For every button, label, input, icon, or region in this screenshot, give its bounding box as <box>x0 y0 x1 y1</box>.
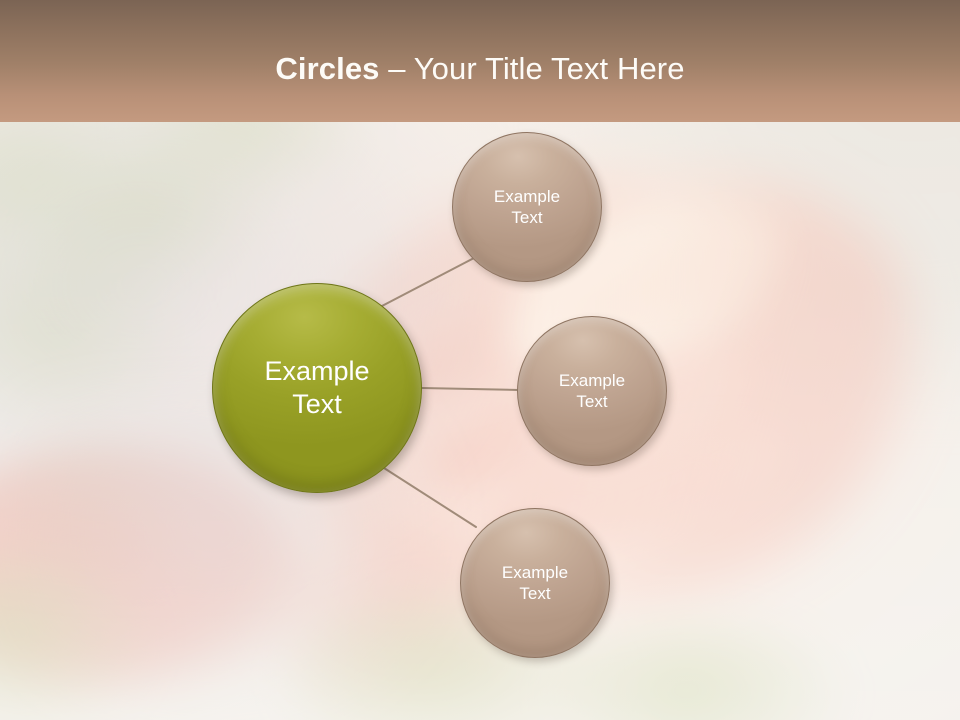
satellite-circle-top-label: Example Text <box>484 186 570 228</box>
satellite-circle-bottom-label: Example Text <box>492 562 578 604</box>
satellite-bottom-line2: Text <box>502 583 568 604</box>
slide-canvas: Circles – Your Title Text Here Example T… <box>0 0 960 720</box>
center-circle-label-line2: Text <box>264 388 369 421</box>
satellite-circle-right-label: Example Text <box>549 370 635 412</box>
connector-center-to-right <box>422 388 519 390</box>
center-circle-label-line1: Example <box>264 355 369 388</box>
satellite-circle-top[interactable]: Example Text <box>452 132 602 282</box>
center-circle-node[interactable]: Example Text <box>212 283 422 493</box>
satellite-right-line1: Example <box>559 370 625 391</box>
center-circle-label: Example Text <box>254 355 379 422</box>
satellite-top-line1: Example <box>494 186 560 207</box>
connector-center-to-top <box>380 258 474 307</box>
satellite-circle-bottom[interactable]: Example Text <box>460 508 610 658</box>
satellite-bottom-line1: Example <box>502 562 568 583</box>
satellite-right-line2: Text <box>559 391 625 412</box>
connector-center-to-bottom <box>384 468 476 527</box>
satellite-top-line2: Text <box>494 207 560 228</box>
satellite-circle-right[interactable]: Example Text <box>517 316 667 466</box>
